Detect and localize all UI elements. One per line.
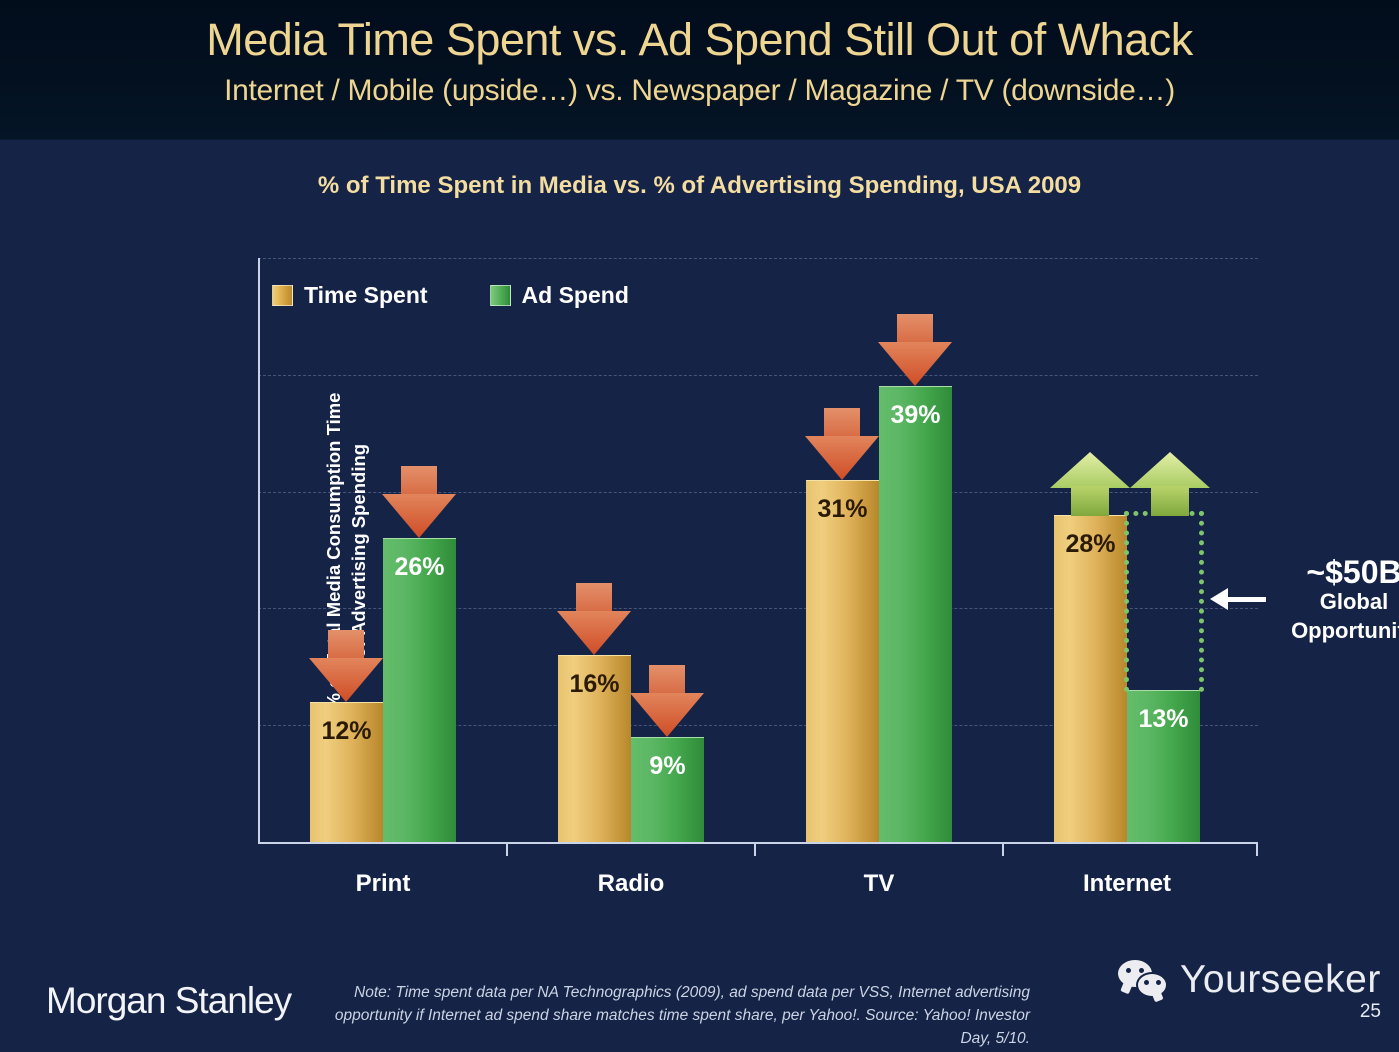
plot-area: % of Total Media Consumption Time or Adv… (258, 258, 1258, 844)
callout-line3: Opportunity (1254, 616, 1399, 645)
footnote-line-2: spend share matches time spent share, pe… (506, 1007, 1030, 1047)
bar-value-print-time-spent: 12% (310, 717, 383, 746)
x-tick-sep-4 (1256, 842, 1258, 856)
bar-value-tv-ad-spend: 39% (879, 401, 952, 430)
morgan-stanley-logo: Morgan Stanley (46, 980, 291, 1022)
y-axis-line (258, 258, 260, 844)
bar-value-internet-time-spent: 28% (1054, 530, 1127, 559)
arrow-down-tv-time-spent-icon (805, 408, 879, 480)
bar-print-time-spent[interactable]: 12% (310, 702, 383, 842)
bar-value-radio-ad-spend: 9% (631, 752, 704, 781)
bar-print-ad-spend[interactable]: 26% (383, 538, 456, 842)
bar-tv-time-spent[interactable]: 31% (806, 480, 879, 842)
bar-value-tv-time-spent: 31% (806, 495, 879, 524)
chart-legend: Time Spent Ad Spend (272, 282, 629, 309)
slide-title: Media Time Spent vs. Ad Spend Still Out … (0, 14, 1399, 66)
legend-label-time-spent: Time Spent (304, 282, 428, 309)
gridline-50 (258, 258, 1258, 259)
bar-value-print-ad-spend: 26% (383, 553, 456, 582)
watermark-text: Yourseeker (1180, 958, 1381, 1002)
x-label-internet: Internet (1027, 870, 1227, 898)
arrow-down-tv-ad-spend-icon (878, 314, 952, 386)
x-label-print: Print (283, 870, 483, 898)
x-label-radio: Radio (531, 870, 731, 898)
legend-swatch-ad-spend-icon (490, 285, 511, 306)
bar-tv-ad-spend[interactable]: 39% (879, 386, 952, 842)
opportunity-box (1124, 511, 1204, 692)
arrow-up-internet-ad-spend-icon (1130, 452, 1210, 516)
watermark: Yourseeker (1118, 958, 1381, 1002)
callout-line2: Global (1254, 587, 1399, 616)
page-number: 25 (1360, 1001, 1381, 1023)
header-band: Media Time Spent vs. Ad Spend Still Out … (0, 0, 1399, 140)
bar-internet-ad-spend[interactable]: 13% (1127, 690, 1200, 842)
arrow-down-print-time-spent-icon (309, 630, 383, 702)
wechat-icon (1118, 958, 1174, 1002)
legend-item-time-spent[interactable]: Time Spent (272, 282, 428, 309)
arrow-up-internet-time-spent-icon (1050, 452, 1130, 516)
slide-subtitle: Internet / Mobile (upside…) vs. Newspape… (0, 74, 1399, 108)
bar-value-radio-time-spent: 16% (558, 670, 631, 699)
x-axis-line (258, 842, 1258, 844)
legend-swatch-time-spent-icon (272, 285, 293, 306)
arrow-down-print-ad-spend-icon (382, 466, 456, 538)
x-tick-sep-1 (506, 842, 508, 856)
arrow-down-radio-ad-spend-icon (630, 665, 704, 737)
footnote: Note: Time spent data per NA Technograph… (310, 981, 1030, 1050)
bar-radio-ad-spend[interactable]: 9% (631, 737, 704, 842)
legend-label-ad-spend: Ad Spend (522, 282, 629, 309)
opportunity-callout: ~$50B Global Opportunity (1254, 558, 1399, 645)
bar-radio-time-spent[interactable]: 16% (558, 655, 631, 842)
gridline-40 (258, 375, 1258, 376)
slide-body: % of Time Spent in Media vs. % of Advert… (0, 140, 1399, 1052)
arrow-down-radio-time-spent-icon (557, 583, 631, 655)
chart-title: % of Time Spent in Media vs. % of Advert… (0, 172, 1399, 200)
legend-item-ad-spend[interactable]: Ad Spend (490, 282, 629, 309)
x-tick-sep-3 (1002, 842, 1004, 856)
bar-internet-time-spent[interactable]: 28% (1054, 515, 1127, 842)
callout-amount: ~$50B (1254, 558, 1399, 587)
x-label-tv: TV (779, 870, 979, 898)
bar-value-internet-ad-spend: 13% (1127, 705, 1200, 734)
x-tick-sep-2 (754, 842, 756, 856)
